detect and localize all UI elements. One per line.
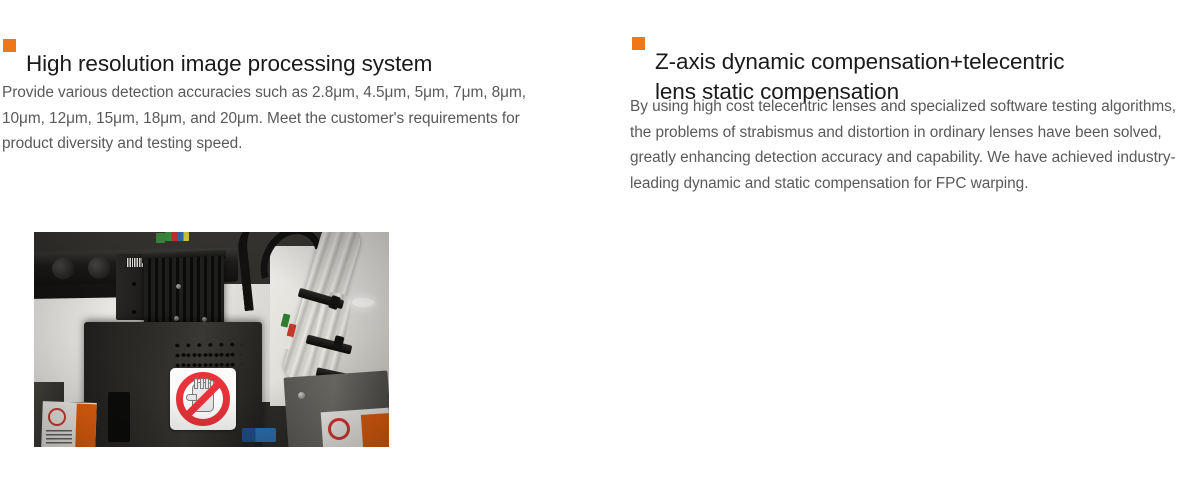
- feature-description-2: By using high cost telecentric lenses an…: [630, 94, 1196, 196]
- feature-body-block-1: Provide various detection accuracies suc…: [2, 80, 532, 157]
- feature-title-1: High resolution image processing system: [0, 49, 560, 79]
- machine-interior-photo: [34, 232, 389, 447]
- feature-body-block-2: By using high cost telecentric lenses an…: [630, 94, 1196, 196]
- photo-vignette: [34, 232, 389, 447]
- feature-description-1: Provide various detection accuracies suc…: [2, 80, 532, 157]
- feature-page: High resolution image processing system …: [0, 0, 1200, 486]
